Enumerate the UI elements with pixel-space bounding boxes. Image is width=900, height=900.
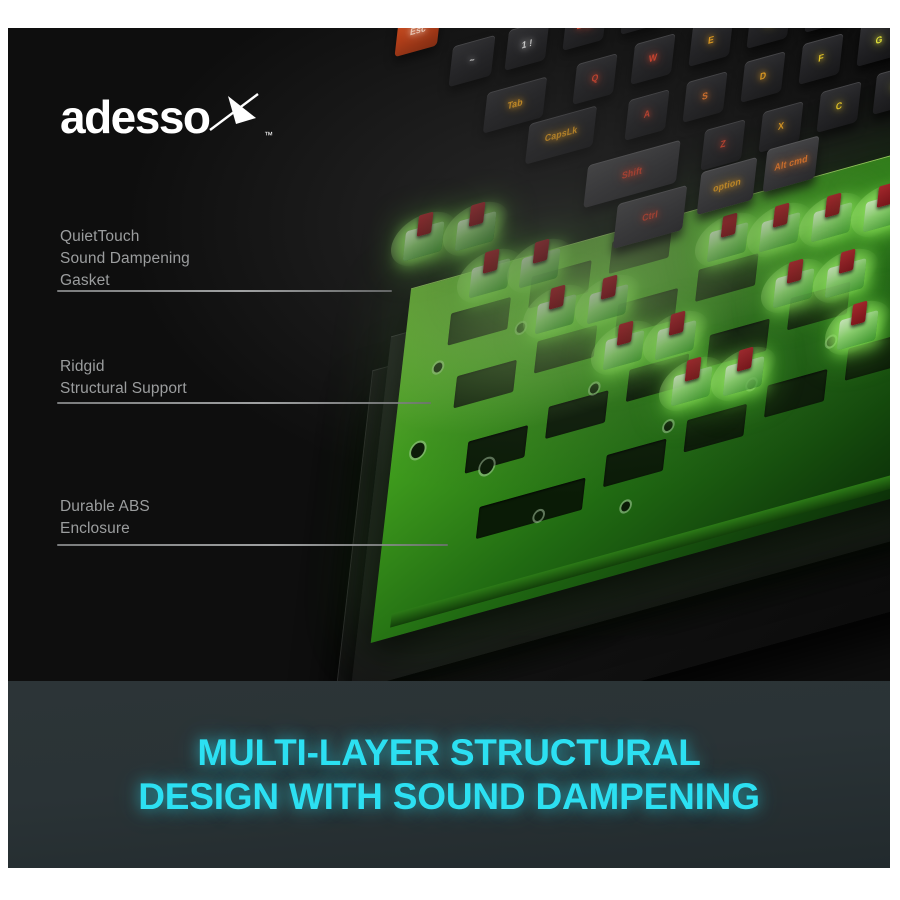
product-graphic-frame: Esc~1 !2 @3 #TabQWERTCapsLkASDFGShiftZXC…: [8, 28, 890, 868]
callout-leader-line-gasket: [57, 290, 392, 292]
trademark-glyph: ™: [264, 130, 273, 140]
headline-line-1: MULTI-LAYER STRUCTURAL: [197, 731, 700, 775]
adesso-logo: adesso ™: [60, 90, 290, 148]
callout-leader-line-enclosure: [57, 544, 448, 546]
callout-leader-line-support: [57, 402, 431, 404]
headline-banner: MULTI-LAYER STRUCTURAL DESIGN WITH SOUND…: [8, 681, 890, 868]
headline-line-2: DESIGN WITH SOUND DAMPENING: [138, 775, 760, 819]
callout-label-gasket: QuietTouch Sound Dampening Gasket: [60, 226, 190, 292]
image-canvas: Esc~1 !2 @3 #TabQWERTCapsLkASDFGShiftZXC…: [0, 0, 900, 900]
callout-label-support: Ridgid Structural Support: [60, 356, 187, 400]
keyboard-photo: Esc~1 !2 @3 #TabQWERTCapsLkASDFGShiftZXC…: [8, 28, 890, 681]
svg-text:adesso: adesso: [60, 91, 210, 143]
callout-label-enclosure: Durable ABS Enclosure: [60, 496, 150, 540]
